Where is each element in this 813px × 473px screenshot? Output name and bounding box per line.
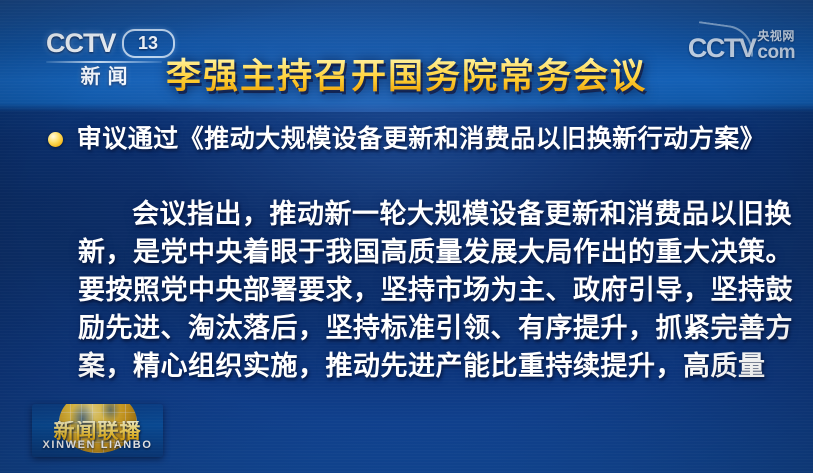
body-line: 案，精心组织实施，推动先进产能比重持续提升，高质量: [78, 348, 740, 386]
subtitle-row: 审议通过《推动大规模设备更新和消费品以旧换新行动方案》: [0, 124, 813, 154]
subtitle-text: 审议通过《推动大规模设备更新和消费品以旧换新行动方案》: [77, 124, 766, 154]
body-paragraph: 会议指出，推动新一轮大规模设备更新和消费品以旧换 新，是党中央着眼于我国高质量发…: [78, 196, 740, 386]
program-logo: 新闻联播 XINWEN LIANBO: [32, 404, 163, 457]
program-title-en: XINWEN LIANBO: [32, 440, 163, 451]
dot-bullet-icon: [48, 132, 63, 147]
body-line: 新，是党中央着眼于我国高质量发展大局作出的重大决策。: [78, 234, 740, 272]
watermark-cn-label: 央视网: [757, 30, 795, 43]
body-line: 要按照党中央部署要求，坚持市场为主、政府引导，坚持鼓: [78, 272, 740, 310]
broadcast-screen: CCTV 13 新闻 CCTV 央视网 com 李强主持召开国务院常务会议 审议…: [0, 0, 813, 473]
cctv-wordmark: CCTV: [46, 30, 116, 57]
channel-number-badge: 13: [122, 29, 175, 58]
channel-logo-row: CCTV 13: [46, 28, 181, 58]
body-line: 励先进、淘汰落后，坚持标准引领、有序提升，抓紧完善方: [78, 310, 740, 348]
body-line: 会议指出，推动新一轮大规模设备更新和消费品以旧换: [78, 196, 740, 234]
headline: 李强主持召开国务院常务会议: [0, 56, 813, 100]
